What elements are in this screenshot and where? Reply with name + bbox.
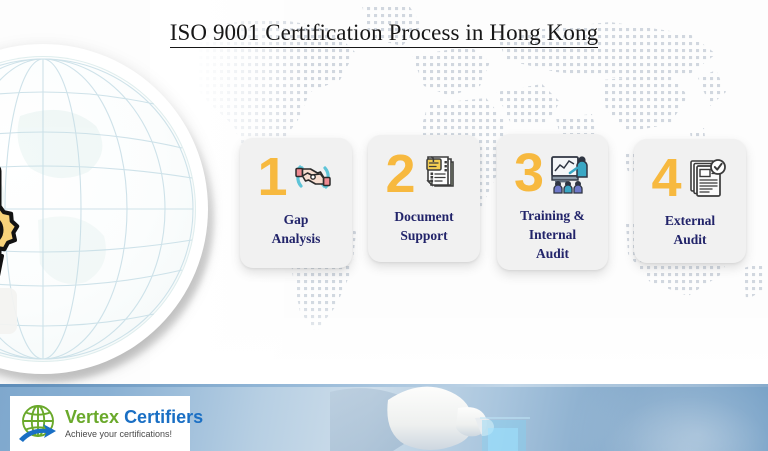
- step-3-label-line2: Internal: [503, 225, 602, 244]
- step-card-1[interactable]: 1 Gap Analysi: [240, 138, 352, 268]
- step-2-number: 2: [385, 147, 415, 201]
- step-2-label-line1: Document: [374, 207, 474, 226]
- process-steps: 1 Gap Analysi: [0, 0, 768, 390]
- step-4-label: External Audit: [634, 211, 746, 249]
- globe-arrow-logo-icon: [16, 401, 62, 447]
- step-1-label-line2: Analysis: [246, 229, 346, 248]
- step-1-label: Gap Analysis: [240, 210, 352, 248]
- document-checklist-icon: [419, 152, 463, 196]
- logo-text-block: Vertex Certifiers Achieve your certifica…: [65, 407, 203, 440]
- logo-brand-first: Vertex: [65, 407, 119, 427]
- step-4-label-line2: Audit: [640, 230, 740, 249]
- step-4-header: 4: [634, 147, 746, 209]
- step-4-label-line1: External: [640, 211, 740, 230]
- logo-brand-second: Certifiers: [124, 407, 203, 427]
- step-3-label-line3: Audit: [503, 244, 602, 263]
- step-1-number: 1: [257, 150, 287, 204]
- handshake-icon: [291, 155, 335, 199]
- step-3-label: Training & Internal Audit: [497, 206, 608, 263]
- step-3-number: 3: [514, 146, 544, 200]
- training-presentation-icon: [547, 151, 591, 195]
- step-card-2[interactable]: 2: [368, 135, 480, 262]
- logo-brand-name: Vertex Certifiers: [65, 407, 203, 427]
- step-3-header: 3: [497, 142, 608, 204]
- company-logo[interactable]: Vertex Certifiers Achieve your certifica…: [10, 396, 190, 451]
- step-3-label-line1: Training &: [503, 206, 602, 225]
- logo-tagline: Achieve your certifications!: [65, 428, 203, 440]
- step-card-4[interactable]: 4: [634, 139, 746, 263]
- step-2-header: 2: [368, 143, 480, 205]
- hand-touching-interface-image: [330, 384, 560, 451]
- documents-check-icon: [685, 156, 729, 200]
- step-card-3[interactable]: 3: [497, 134, 608, 270]
- step-2-label: Document Support: [368, 207, 480, 245]
- step-1-header: 1: [240, 146, 352, 208]
- step-1-label-line1: Gap: [246, 210, 346, 229]
- infographic-canvas: ISO 9001 Certification Process in Hong K…: [0, 0, 768, 451]
- step-2-label-line2: Support: [374, 226, 474, 245]
- step-4-number: 4: [651, 151, 681, 205]
